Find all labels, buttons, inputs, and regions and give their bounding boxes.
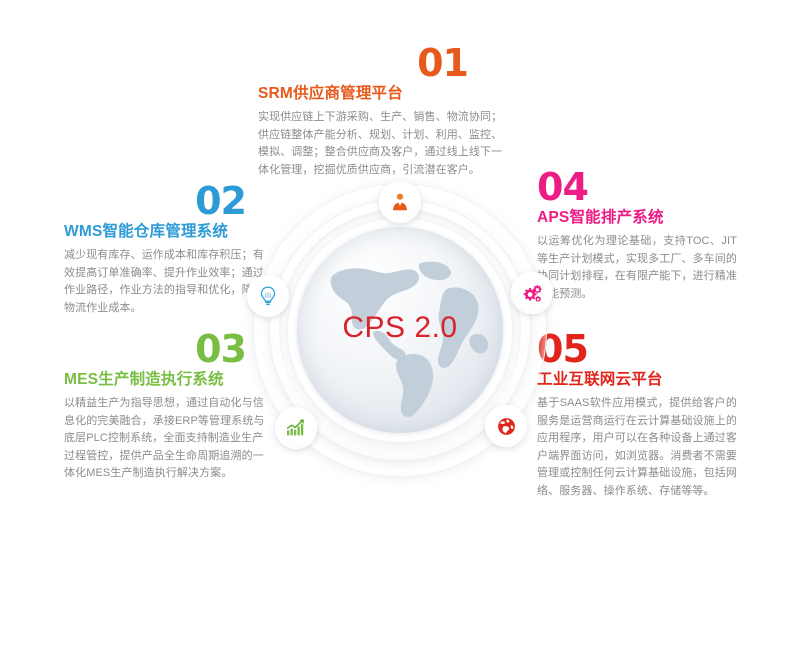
badge-globe[interactable] (485, 405, 527, 447)
badge-user[interactable] (379, 181, 421, 223)
block-body-04: 以运筹优化为理论基础，支持TOC、JIT等生产计划模式，实现多工厂、多车间的协同… (537, 233, 737, 303)
feature-block-05: 05 工业互联网云平台 基于SAAS软件应用模式，提供给客户的服务是运营商运行在… (537, 330, 737, 500)
badge-gears[interactable] (511, 272, 553, 314)
block-title-05: 工业互联网云平台 (537, 370, 737, 390)
badge-bar-chart[interactable] (275, 407, 317, 449)
globe-icon (496, 416, 517, 437)
center-label: CPS 2.0 (297, 311, 503, 345)
block-number-04: 04 (537, 168, 737, 206)
block-body-05: 基于SAAS软件应用模式，提供给客户的服务是运营商运行在云计算基础设施上的应用程… (537, 395, 737, 500)
block-number-01: 01 (258, 44, 506, 82)
user-icon (389, 191, 411, 213)
gears-icon (521, 282, 544, 305)
world-globe: CPS 2.0 (297, 227, 503, 433)
center-hub-graphic: CPS 2.0 (253, 183, 547, 477)
block-title-03: MES生产制造执行系统 (64, 370, 272, 390)
block-body-01: 实现供应链上下游采购、生产、销售、物流协同；供应链整体产能分析、规划、计划、利用… (258, 109, 506, 179)
feature-block-02: 02 WMS智能仓库管理系统 减少现有库存、运作成本和库存积压；有效提高订单准确… (64, 182, 272, 317)
block-number-03: 03 (64, 330, 272, 368)
block-body-03: 以精益生产为指导思想，通过自动化与信息化的完美融合，承接ERP等管理系统与底层P… (64, 395, 272, 483)
block-body-02: 减少现有库存、运作成本和库存积压；有效提高订单准确率、提升作业效率；通过作业路径… (64, 247, 272, 317)
feature-block-03: 03 MES生产制造执行系统 以精益生产为指导思想，通过自动化与信息化的完美融合… (64, 330, 272, 483)
block-number-05: 05 (537, 330, 737, 368)
block-number-02: 02 (64, 182, 272, 220)
bar-chart-growth-icon (285, 417, 307, 439)
lightbulb-icon (257, 285, 279, 307)
block-title-01: SRM供应商管理平台 (258, 84, 506, 104)
block-title-02: WMS智能仓库管理系统 (64, 222, 272, 242)
feature-block-01: 01 SRM供应商管理平台 实现供应链上下游采购、生产、销售、物流协同；供应链整… (258, 44, 506, 179)
feature-block-04: 04 APS智能排产系统 以运筹优化为理论基础，支持TOC、JIT等生产计划模式… (537, 168, 737, 303)
infographic-canvas: 01 SRM供应商管理平台 实现供应链上下游采购、生产、销售、物流协同；供应链整… (0, 0, 800, 654)
block-title-04: APS智能排产系统 (537, 208, 737, 228)
badge-lightbulb[interactable] (247, 275, 289, 317)
